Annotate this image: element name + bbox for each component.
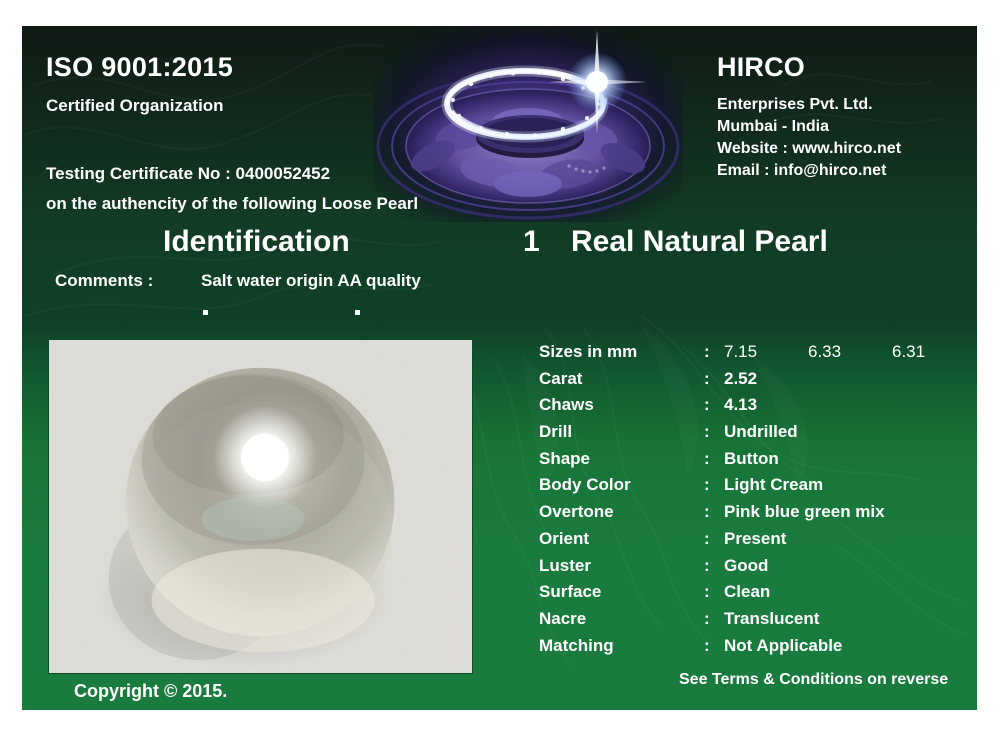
spec-colon: : xyxy=(704,636,724,656)
spec-colon: : xyxy=(704,556,724,576)
certificate-card: ISO 9001:2015 Certified Organization Tes… xyxy=(22,26,977,710)
company-legal-form: Enterprises Pvt. Ltd. xyxy=(717,96,873,114)
spec-value: Undrilled xyxy=(724,422,798,442)
spec-colon: : xyxy=(704,609,724,629)
comments-value: Salt water origin AA quality xyxy=(201,271,421,291)
spec-value: Present xyxy=(724,529,786,549)
spec-row-body-color: Body Color : Light Cream xyxy=(539,475,969,502)
spec-row-drill: Drill : Undrilled xyxy=(539,422,969,449)
spec-colon: : xyxy=(704,395,724,415)
certificate-page: ISO 9001:2015 Certified Organization Tes… xyxy=(0,0,1000,743)
iso-title: ISO 9001:2015 xyxy=(46,52,233,83)
pearl-photo xyxy=(48,339,473,674)
testing-certificate-number: Testing Certificate No : 0400052452 xyxy=(46,164,330,184)
company-website[interactable]: Website : www.hirco.net xyxy=(717,140,901,158)
spec-key: Overtone xyxy=(539,502,704,522)
spec-row-nacre: Nacre : Translucent xyxy=(539,609,969,636)
comments-marker-dot-left xyxy=(203,310,208,315)
spec-colon: : xyxy=(704,342,724,362)
spec-value: Pink blue green mix xyxy=(724,502,885,522)
spec-value: Button xyxy=(724,449,779,469)
spec-row-matching: Matching : Not Applicable xyxy=(539,636,969,663)
spec-key: Nacre xyxy=(539,609,704,629)
company-location: Mumbai - India xyxy=(717,118,829,136)
spec-key: Sizes in mm xyxy=(539,342,704,362)
spec-row-chaws: Chaws : 4.13 xyxy=(539,395,969,422)
specifications-table: Sizes in mm : 7.15 6.33 6.31 Carat : 2.5… xyxy=(539,342,969,662)
spec-colon: : xyxy=(704,422,724,442)
spec-value: 4.13 xyxy=(724,395,757,415)
comments-label: Comments : xyxy=(55,271,153,291)
spec-key: Body Color xyxy=(539,475,704,495)
spec-key: Carat xyxy=(539,369,704,389)
spec-row-shape: Shape : Button xyxy=(539,449,969,476)
identification-value: Real Natural Pearl xyxy=(571,225,828,259)
spec-key: Shape xyxy=(539,449,704,469)
spec-value-sizes: 7.15 6.33 6.31 xyxy=(724,342,925,362)
spec-value: Translucent xyxy=(724,609,819,629)
size-dimension-1: 7.15 xyxy=(724,342,808,362)
spec-row-overtone: Overtone : Pink blue green mix xyxy=(539,502,969,529)
spec-colon: : xyxy=(704,475,724,495)
spec-row-orient: Orient : Present xyxy=(539,529,969,556)
company-email[interactable]: Email : info@hirco.net xyxy=(717,162,886,180)
spec-row-sizes: Sizes in mm : 7.15 6.33 6.31 xyxy=(539,342,969,369)
identification-number: 1 xyxy=(523,225,540,259)
spec-key: Orient xyxy=(539,529,704,549)
spec-key: Surface xyxy=(539,582,704,602)
spec-colon: : xyxy=(704,529,724,549)
spec-colon: : xyxy=(704,582,724,602)
spec-colon: : xyxy=(704,449,724,469)
size-dimension-2: 6.33 xyxy=(808,342,892,362)
spec-key: Chaws xyxy=(539,395,704,415)
terms-and-conditions-note: See Terms & Conditions on reverse xyxy=(679,671,948,689)
spec-value: Clean xyxy=(724,582,770,602)
identification-heading: Identification xyxy=(163,225,350,259)
spec-row-luster: Luster : Good xyxy=(539,556,969,583)
spec-key: Luster xyxy=(539,556,704,576)
company-name: HIRCO xyxy=(717,52,805,83)
spec-value: 2.52 xyxy=(724,369,757,389)
spec-key: Drill xyxy=(539,422,704,442)
spec-row-surface: Surface : Clean xyxy=(539,582,969,609)
holographic-logo xyxy=(373,26,683,222)
spec-value: Light Cream xyxy=(724,475,823,495)
spec-value: Not Applicable xyxy=(724,636,842,656)
copyright-notice: Copyright © 2015. xyxy=(74,681,227,702)
spec-colon: : xyxy=(704,369,724,389)
authenticity-line: on the authencity of the following Loose… xyxy=(46,194,418,214)
spec-colon: : xyxy=(704,502,724,522)
spec-key: Matching xyxy=(539,636,704,656)
spec-row-carat: Carat : 2.52 xyxy=(539,369,969,396)
certified-org-label: Certified Organization xyxy=(46,96,224,116)
comments-marker-dot-right xyxy=(355,310,360,315)
spec-value: Good xyxy=(724,556,768,576)
size-dimension-3: 6.31 xyxy=(892,342,925,362)
